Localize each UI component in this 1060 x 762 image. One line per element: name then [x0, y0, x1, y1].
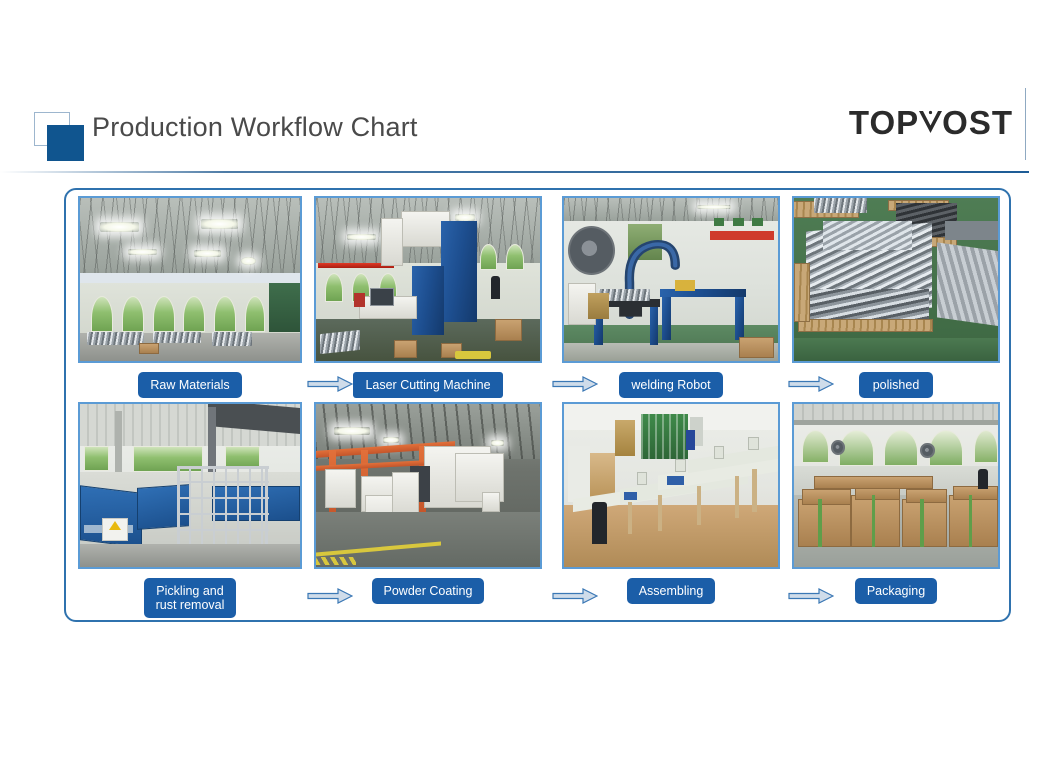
stage-label: Powder Coating [372, 578, 485, 604]
logo-solid-square [47, 125, 84, 161]
page-title: Production Workflow Chart [92, 112, 418, 143]
stage-label: Pickling and rust removal [144, 578, 237, 618]
workflow-stage-polished[interactable]: polished [792, 196, 1000, 398]
page-header: Production Workflow Chart TOP OST [0, 0, 1060, 175]
brand-suffix: OST [942, 104, 1013, 142]
photo-powder-coating-line [314, 402, 542, 569]
photo-pickling-tanks [78, 402, 302, 569]
photo-laser-cutting-machine [314, 196, 542, 363]
photo-assembly-line-workbenches [562, 402, 780, 569]
header-horizontal-rule [0, 171, 1029, 173]
workflow-frame: Raw Materials [64, 188, 1011, 622]
workflow-stage-raw-materials[interactable]: Raw Materials [78, 196, 302, 398]
workflow-stage-laser-cutting-machine[interactable]: Laser Cutting Machine [314, 196, 542, 398]
photo-factory-workshop-interior [78, 196, 302, 363]
brand-triangle-m-icon [918, 109, 943, 134]
square-stack-icon [34, 112, 86, 162]
photo-packaged-cartons-warehouse [792, 402, 1000, 569]
photo-polished-metal-parts-stacked [792, 196, 1000, 363]
workflow-stage-packaging[interactable]: Packaging [792, 402, 1000, 604]
workflow-stage-welding-robot[interactable]: welding Robot [562, 196, 780, 398]
stage-label: Packaging [855, 578, 937, 604]
stage-label: welding Robot [619, 372, 722, 398]
brand-text: TOP OST [849, 104, 1013, 142]
photo-welding-robot-arm [562, 196, 780, 363]
stage-label: polished [859, 372, 933, 398]
workflow-stage-powder-coating[interactable]: Powder Coating [314, 402, 542, 604]
workflow-stage-pickling-rust-removal[interactable]: Pickling and rust removal [78, 402, 302, 618]
stage-label: Assembling [627, 578, 716, 604]
workflow-row-1: Raw Materials [66, 196, 1009, 402]
brand-prefix: TOP [849, 104, 919, 142]
workflow-stage-assembling[interactable]: Assembling [562, 402, 780, 604]
brand-logo: TOP OST [849, 104, 1013, 142]
stage-label: Laser Cutting Machine [353, 372, 502, 398]
header-vertical-divider [1025, 88, 1026, 160]
workflow-row-2: Pickling and rust removal [66, 402, 1009, 608]
stage-label: Raw Materials [138, 372, 241, 398]
